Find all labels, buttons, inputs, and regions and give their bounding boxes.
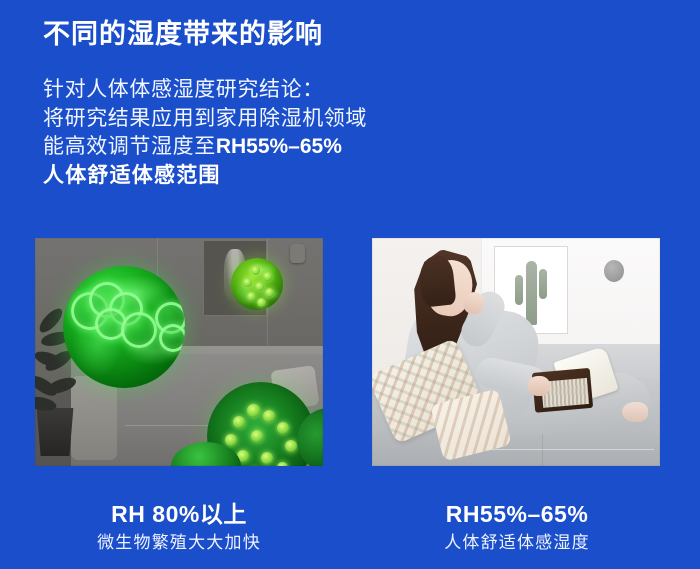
humidity-infographic-poster: 不同的湿度带来的影响 针对人体体感湿度研究结论： 将研究结果应用到家用除湿机领域… [0,0,700,569]
microbe-spike [251,430,263,442]
microbe-spike [263,410,275,422]
microbe-blob-medium [231,258,283,310]
microbe-spike [247,292,256,301]
microbe-spike [265,288,274,297]
microbe-spike [225,434,237,446]
intro-line-2: 将研究结果应用到家用除湿机领域 [43,105,473,134]
microbe-spike [277,422,289,434]
woman-foot [622,402,648,422]
microbe-spike [247,404,260,417]
microbe-blob-large [63,266,185,388]
woman-hand-on-book [528,376,550,396]
leaf [35,393,58,414]
caption-left-main: RH 80%以上 [29,500,329,528]
microbe-spike [277,462,288,466]
photo-comfort-humidity [372,238,660,466]
intro-line-4: 人体舒适体感范围 [43,162,473,191]
page-title: 不同的湿度带来的影响 [43,17,323,51]
microbe-spike [257,298,266,307]
microbe-spike [285,440,297,452]
wall-speaker-icon [290,244,305,263]
caption-right-sub: 人体舒适体感湿度 [367,530,667,556]
caption-comfort-humidity: RH55%–65% 人体舒适体感湿度 [367,500,667,556]
intro-text-block: 针对人体体感湿度研究结论： 将研究结果应用到家用除湿机领域 能高效调节湿度至RH… [43,76,473,190]
dim-living-room-scene [35,238,323,466]
microbe-ring [121,312,157,348]
intro-line-3: 能高效调节湿度至RH55%–65% [43,133,473,162]
microbe-spike [261,452,273,464]
caption-high-humidity: RH 80%以上 微生物繁殖大大加快 [29,500,329,556]
microbe-spike [243,278,252,287]
intro-line-1: 针对人体体感湿度研究结论： [43,76,473,105]
caption-left-sub: 微生物繁殖大大加快 [29,530,329,556]
microbe-spike [233,416,245,428]
microbe-spike [255,282,264,291]
photo-high-humidity [35,238,323,466]
intro-line-3-prefix: 能高效调节湿度至 [43,135,216,158]
caption-right-main: RH55%–65% [367,500,667,528]
microbe-ring [159,324,185,352]
leaf [46,376,78,396]
microbe-spike [251,266,260,275]
microbe-spike [263,272,272,281]
humidity-range-highlight: RH55%–65% [216,135,342,158]
bright-living-room-scene [372,238,660,466]
